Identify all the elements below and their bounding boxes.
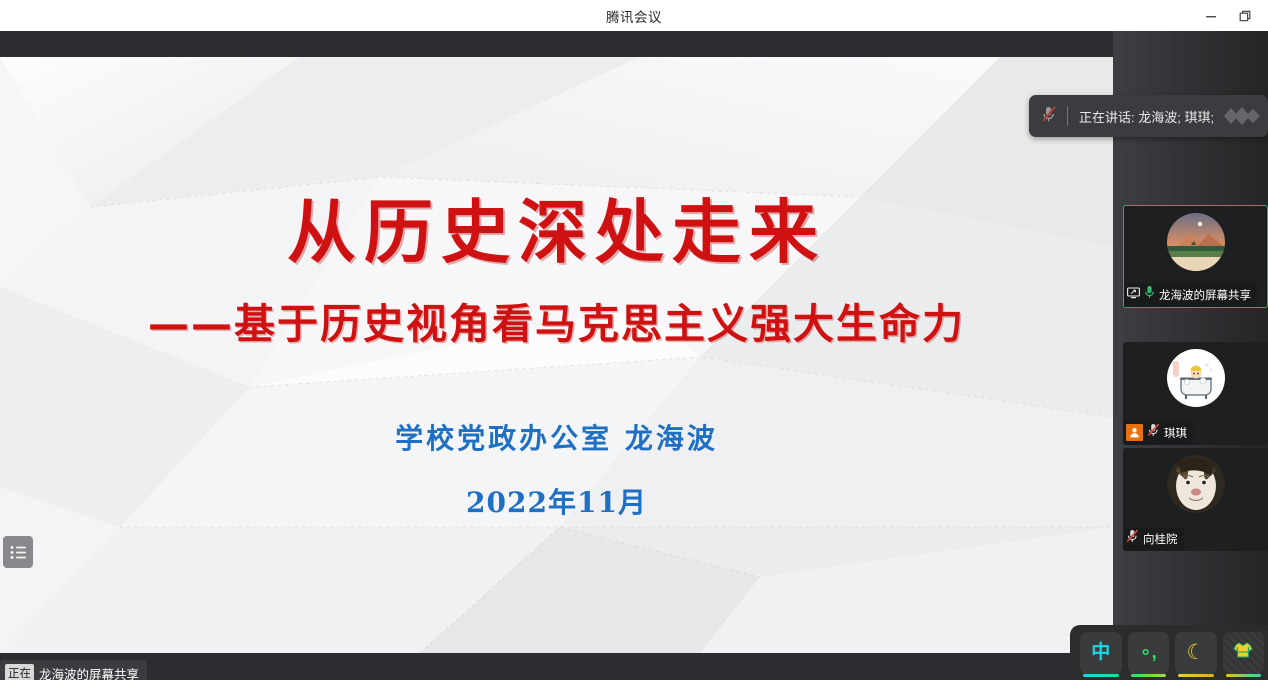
slide-main-title: 从历史深处走来 — [287, 199, 826, 268]
window-title: 腾讯会议 — [606, 6, 662, 26]
meeting-content: 从历史深处走来 ——基于历史视角看马克思主义强大生命力 学校党政办公室 龙海波 … — [0, 31, 1268, 680]
participant-name: 琪琪 — [1164, 425, 1187, 441]
ime-language-mode[interactable]: 中 — [1080, 632, 1122, 674]
share-status-bar[interactable]: 正在 龙海波的屏幕共享 — [0, 660, 147, 680]
minimize-button[interactable] — [1194, 0, 1228, 31]
window-title-bar: 腾讯会议 — [0, 0, 1268, 31]
participant-name: 向桂院 — [1143, 531, 1178, 547]
ime-language-label: 中 — [1091, 643, 1110, 662]
tile-footer: 琪琪 — [1123, 421, 1193, 445]
sound-wave-icon — [1214, 104, 1260, 133]
shirt-icon — [1232, 640, 1254, 665]
ime-toolbar[interactable]: 中 ∘, ☾ — [1070, 625, 1268, 680]
slide-text-block: 从历史深处走来 ——基于历史视角看马克思主义强大生命力 学校党政办公室 龙海波 … — [0, 57, 1113, 653]
ime-key-underline — [1131, 674, 1167, 677]
restore-button[interactable] — [1228, 0, 1262, 31]
ime-key-underline — [1083, 674, 1119, 677]
banner-divider — [1067, 106, 1068, 126]
participant-tile-screenshare[interactable]: 龙海波的屏幕共享 — [1123, 205, 1268, 308]
ime-night-mode[interactable]: ☾ — [1175, 632, 1217, 674]
slide-subtitle: ——基于历史视角看马克思主义强大生命力 — [148, 304, 965, 345]
share-status-chip: 正在 — [5, 664, 34, 680]
mountain-landscape-avatar — [1167, 213, 1225, 271]
participant-tile-xiangguiyuan[interactable]: 向桂院 — [1123, 448, 1268, 551]
tile-footer: 向桂院 — [1123, 527, 1184, 551]
tencent-meeting-window: 腾讯会议 — [0, 0, 1268, 680]
slide-date: 2022年11月 — [466, 481, 647, 521]
mic-muted-icon — [1147, 423, 1160, 442]
window-controls — [1194, 0, 1262, 31]
ime-skin-theme[interactable] — [1223, 632, 1265, 674]
mic-on-icon — [1144, 285, 1155, 304]
ime-punctuation-label: ∘, — [1140, 643, 1157, 662]
shared-screen-area[interactable]: 从历史深处走来 ——基于历史视角看马克思主义强大生命力 学校党政办公室 龙海波 … — [0, 31, 1113, 680]
presentation-slide: 从历史深处走来 ——基于历史视角看马克思主义强大生命力 学校党政办公室 龙海波 … — [0, 57, 1113, 653]
moon-icon: ☾ — [1186, 642, 1205, 663]
host-person-icon — [1126, 424, 1143, 441]
ime-key-underline — [1178, 674, 1214, 677]
participant-tile-qiqi[interactable]: 琪琪 — [1123, 342, 1268, 445]
share-status-label: 龙海波的屏幕共享 — [39, 664, 139, 680]
participant-name: 龙海波的屏幕共享 — [1159, 287, 1251, 303]
speaking-banner: 正在讲话: 龙海波; 琪琪; — [1029, 95, 1268, 137]
list-menu-icon[interactable] — [3, 536, 33, 568]
mic-muted-icon — [1041, 105, 1057, 128]
slide-presenter: 学校党政办公室 龙海波 — [395, 417, 718, 457]
ime-punctuation-mode[interactable]: ∘, — [1128, 632, 1170, 674]
mic-muted-icon — [1126, 529, 1139, 548]
dog-photo-avatar — [1167, 455, 1225, 513]
speaking-text: 正在讲话: 龙海波; 琪琪; — [1079, 107, 1214, 126]
ime-key-underline — [1226, 674, 1262, 677]
tile-footer: 龙海波的屏幕共享 — [1124, 283, 1257, 307]
screen-share-icon — [1127, 286, 1140, 304]
bathtub-cartoon-avatar — [1167, 349, 1225, 407]
